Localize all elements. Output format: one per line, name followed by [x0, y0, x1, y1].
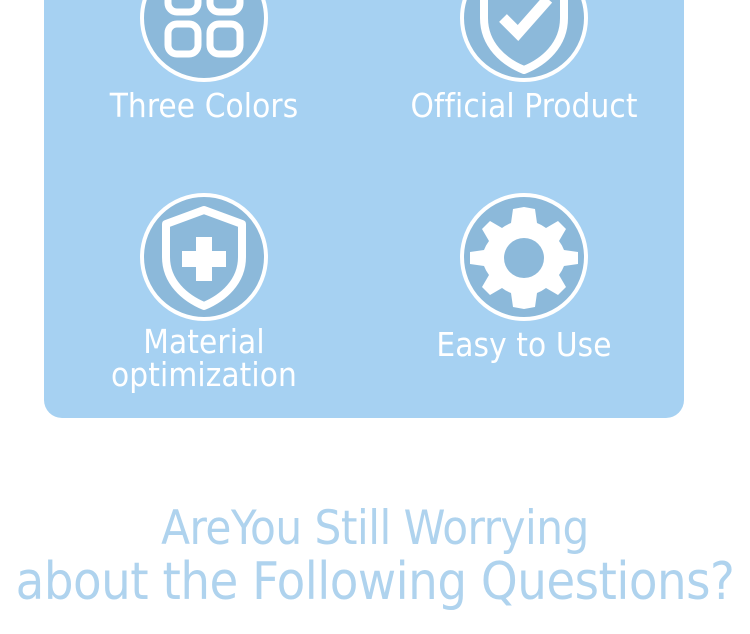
- gear-icon: [458, 191, 590, 323]
- shield-check-icon: [458, 0, 590, 84]
- feature-label-three-colors: Three Colors: [110, 90, 299, 122]
- feature-grid: Three Colors Official Product: [44, 0, 684, 418]
- shield-plus-icon: [138, 191, 270, 323]
- feature-item-official-product[interactable]: Official Product: [364, 0, 684, 179]
- feature-item-three-colors[interactable]: Three Colors: [44, 0, 364, 179]
- feature-item-easy-to-use[interactable]: Easy to Use: [364, 179, 684, 418]
- feature-label-material-optimization: Material optimization: [111, 325, 297, 391]
- page-headline: AreYou Still Worrying about the Followin…: [0, 505, 750, 608]
- headline-line-1: AreYou Still Worrying: [0, 505, 750, 552]
- feature-item-material-optimization[interactable]: Material optimization: [44, 179, 364, 418]
- four-squares-grid-icon: [138, 0, 270, 84]
- feature-label-easy-to-use: Easy to Use: [436, 329, 611, 361]
- headline-line-2: about the Following Questions?: [0, 556, 750, 608]
- feature-label-official-product: Official Product: [410, 90, 637, 122]
- feature-panel: Three Colors Official Product: [44, 0, 684, 418]
